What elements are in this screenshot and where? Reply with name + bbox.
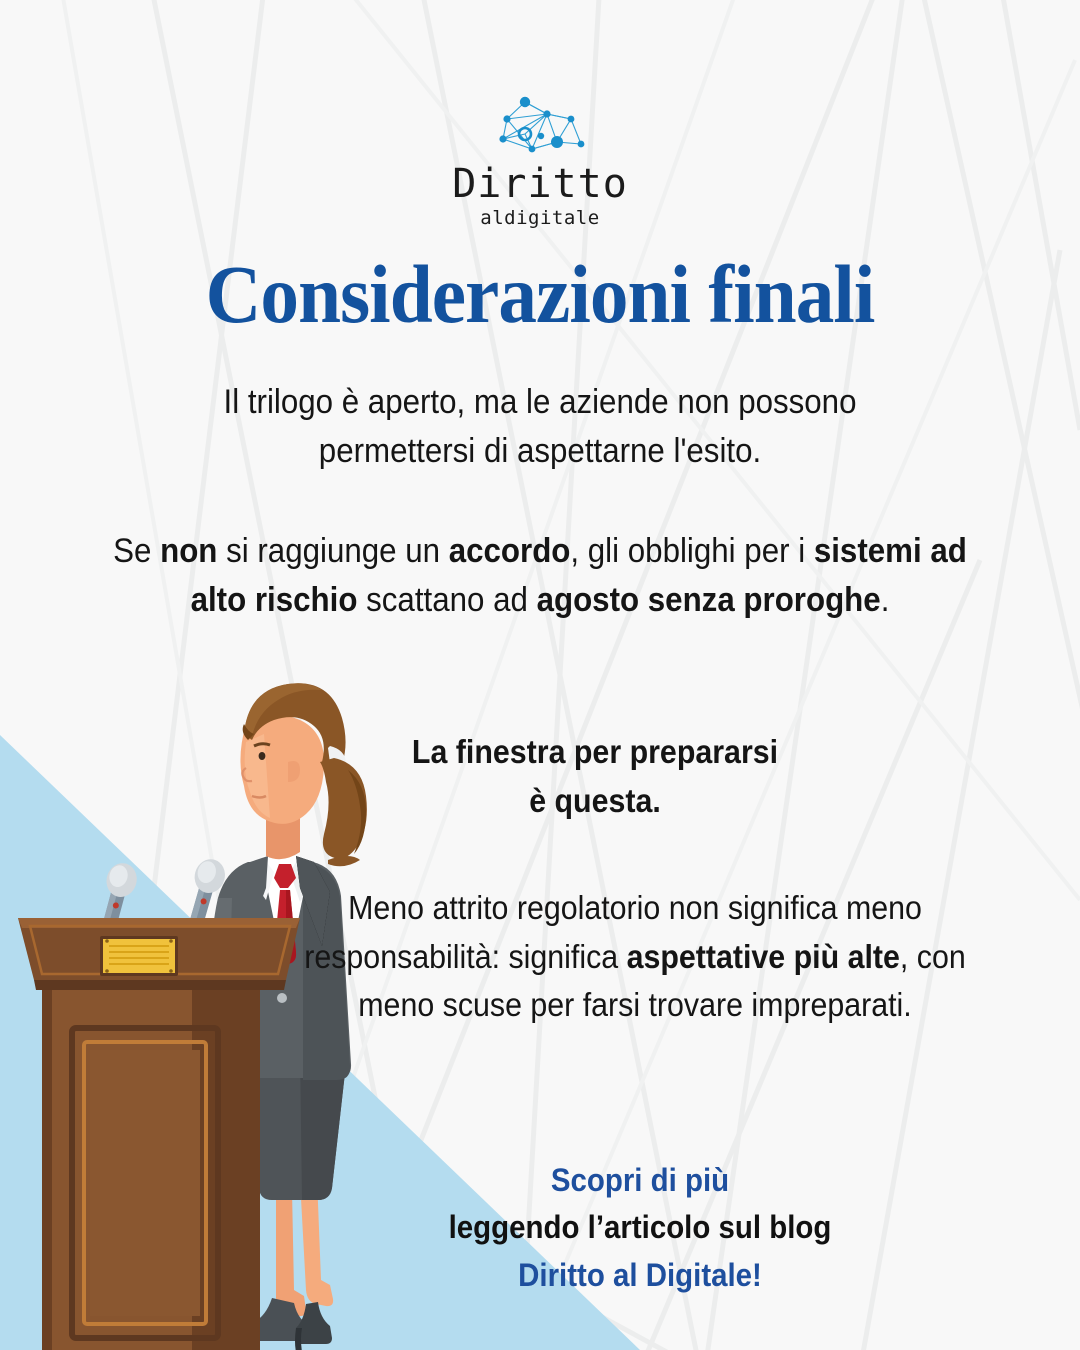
- podium: [18, 918, 300, 1350]
- poster-canvas: Diritto aldigitale Considerazioni finali…: [0, 0, 1080, 1350]
- cta-block[interactable]: Scopri di più leggendo l’articolo sul bl…: [272, 1157, 1008, 1299]
- p2-seg-f: .: [881, 581, 890, 619]
- brand-logo: Diritto aldigitale: [0, 92, 1080, 228]
- p2-bold-non: non: [160, 532, 217, 570]
- p2-seg-e: scattano ad: [357, 581, 536, 619]
- paragraph-intro-line1: Il trilogo è aperto, ma le aziende non p…: [224, 383, 857, 421]
- p3-line1: La finestra per prepararsi: [412, 733, 778, 770]
- paragraph-intro: Il trilogo è aperto, ma le aziende non p…: [98, 378, 981, 477]
- cta-line-2[interactable]: leggendo l’articolo sul blog: [449, 1209, 832, 1245]
- paragraph-intro-line2: permettersi di aspettarne l'esito.: [319, 432, 761, 470]
- p4-bold-aspettative: aspettative più alte: [627, 938, 900, 975]
- page-title: Considerazioni finali: [38, 253, 1042, 336]
- p2-seg-d: , gli obblighi per i: [570, 532, 813, 570]
- paragraph-attrito: Meno attrito regolatorio non significa m…: [281, 884, 989, 1030]
- cta-line-3[interactable]: Diritto al Digitale!: [518, 1257, 762, 1293]
- cta-line-1[interactable]: Scopri di più: [551, 1162, 729, 1198]
- p2-bold-agosto: agosto senza proroghe: [537, 581, 881, 619]
- p2-bold-accordo: accordo: [449, 532, 571, 570]
- paragraph-finestra: La finestra per prepararsi è questa.: [204, 728, 986, 826]
- brand-tagline: aldigitale: [480, 209, 599, 228]
- paragraph-accordo: Se non si raggiunge un accordo, gli obbl…: [108, 527, 973, 626]
- brand-name: Diritto: [452, 164, 628, 204]
- gold-plaque: [100, 936, 178, 976]
- p2-seg-c: si raggiunge un: [217, 532, 448, 570]
- p2-seg-a: Se: [113, 532, 160, 570]
- network-nodes-icon: [485, 92, 595, 168]
- p3-line2: è questa.: [529, 782, 661, 819]
